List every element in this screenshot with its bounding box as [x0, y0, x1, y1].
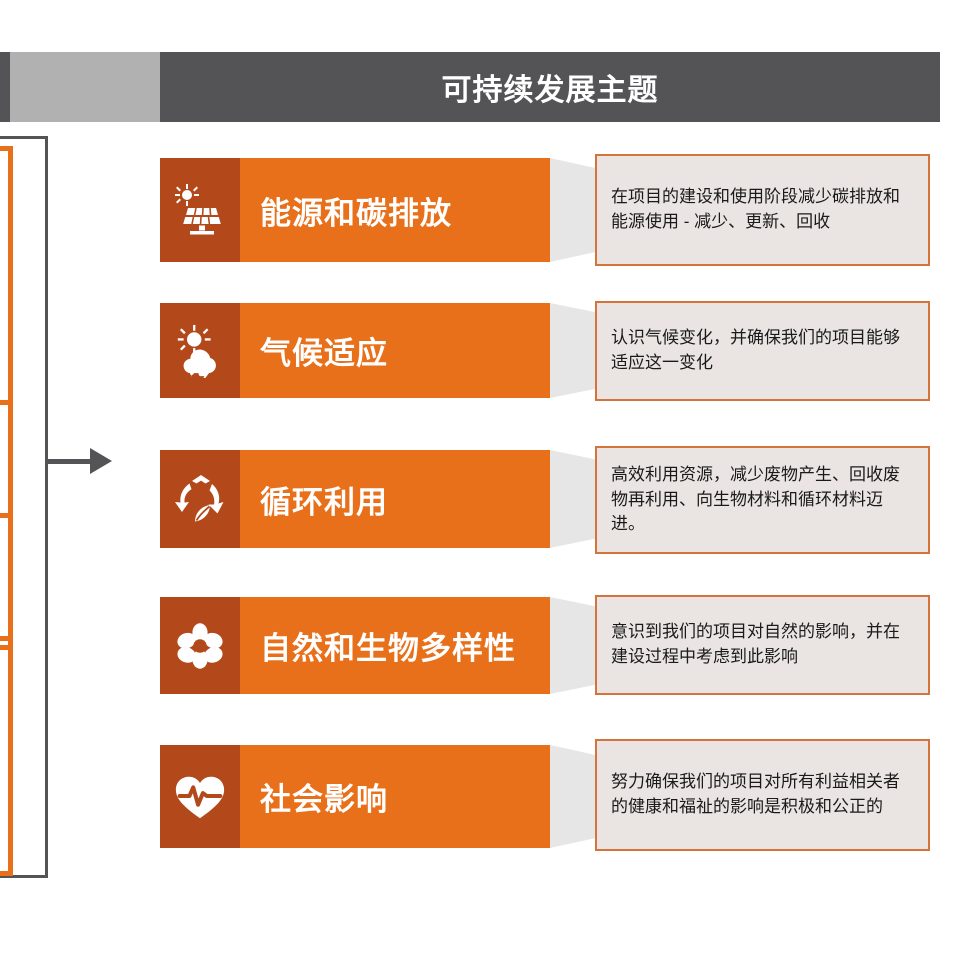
theme-label-bar: 气候适应 — [240, 303, 550, 398]
theme-label: 社会影响 — [240, 774, 388, 819]
theme-row[interactable]: 自然和生物多样性 意识到我们的项目对自然的影响，并在建设过程中考虑到此影响 — [160, 597, 930, 694]
theme-row[interactable]: 气候适应 认识气候变化，并确保我们的项目能够适应这一变化 — [160, 303, 930, 398]
page-title: 可持续发展主题 — [160, 52, 940, 122]
theme-label-bar: 循环利用 — [240, 450, 550, 548]
theme-description-box: 认识气候变化，并确保我们的项目能够适应这一变化 — [595, 301, 930, 401]
flow-arrow-line — [47, 459, 93, 464]
theme-description-box: 意识到我们的项目对自然的影响，并在建设过程中考虑到此影响 — [595, 595, 930, 695]
theme-description: 意识到我们的项目对自然的影响，并在建设过程中考虑到此影响 — [597, 616, 928, 673]
flow-arrow-head-icon — [90, 448, 112, 474]
header-gray-block — [10, 52, 160, 122]
theme-label: 能源和碳排放 — [240, 188, 452, 233]
solar-panel-icon — [160, 158, 240, 262]
theme-label: 气候适应 — [240, 328, 388, 373]
theme-label-bar: 社会影响 — [240, 745, 550, 848]
theme-label: 循环利用 — [240, 477, 388, 522]
theme-row[interactable]: 社会影响 努力确保我们的项目对所有利益相关者的健康和福祉的影响是积极和公正的 — [160, 745, 930, 848]
theme-label-bar: 自然和生物多样性 — [240, 597, 550, 694]
theme-description-box: 在项目的建设和使用阶段减少碳排放和能源使用 - 减少、更新、回收 — [595, 154, 930, 266]
left-clipped-box-3 — [0, 636, 13, 876]
heart-pulse-icon — [160, 745, 240, 848]
recycle-leaf-icon — [160, 450, 240, 548]
theme-row[interactable]: 能源和碳排放 在项目的建设和使用阶段减少碳排放和能源使用 - 减少、更新、回收 — [160, 158, 930, 262]
left-clipped-box-2 — [0, 400, 13, 650]
theme-description-box: 努力确保我们的项目对所有利益相关者的健康和福祉的影响是积极和公正的 — [595, 739, 930, 851]
theme-label-bar: 能源和碳排放 — [240, 158, 550, 262]
theme-label: 自然和生物多样性 — [240, 623, 516, 668]
flower-icon — [160, 597, 240, 694]
theme-description: 在项目的建设和使用阶段减少碳排放和能源使用 - 减少、更新、回收 — [597, 181, 928, 238]
theme-description: 高效利用资源，减少废物产生、回收废物再利用、向生物材料和循环材料迈进。 — [597, 459, 928, 541]
theme-description-box: 高效利用资源，减少废物产生、回收废物再利用、向生物材料和循环材料迈进。 — [595, 446, 930, 554]
theme-description: 努力确保我们的项目对所有利益相关者的健康和福祉的影响是积极和公正的 — [597, 766, 928, 823]
theme-row[interactable]: 循环利用 高效利用资源，减少废物产生、回收废物再利用、向生物材料和循环材料迈进。 — [160, 450, 930, 548]
theme-description: 认识气候变化，并确保我们的项目能够适应这一变化 — [597, 322, 928, 379]
sun-cloud-rain-icon — [160, 303, 240, 398]
